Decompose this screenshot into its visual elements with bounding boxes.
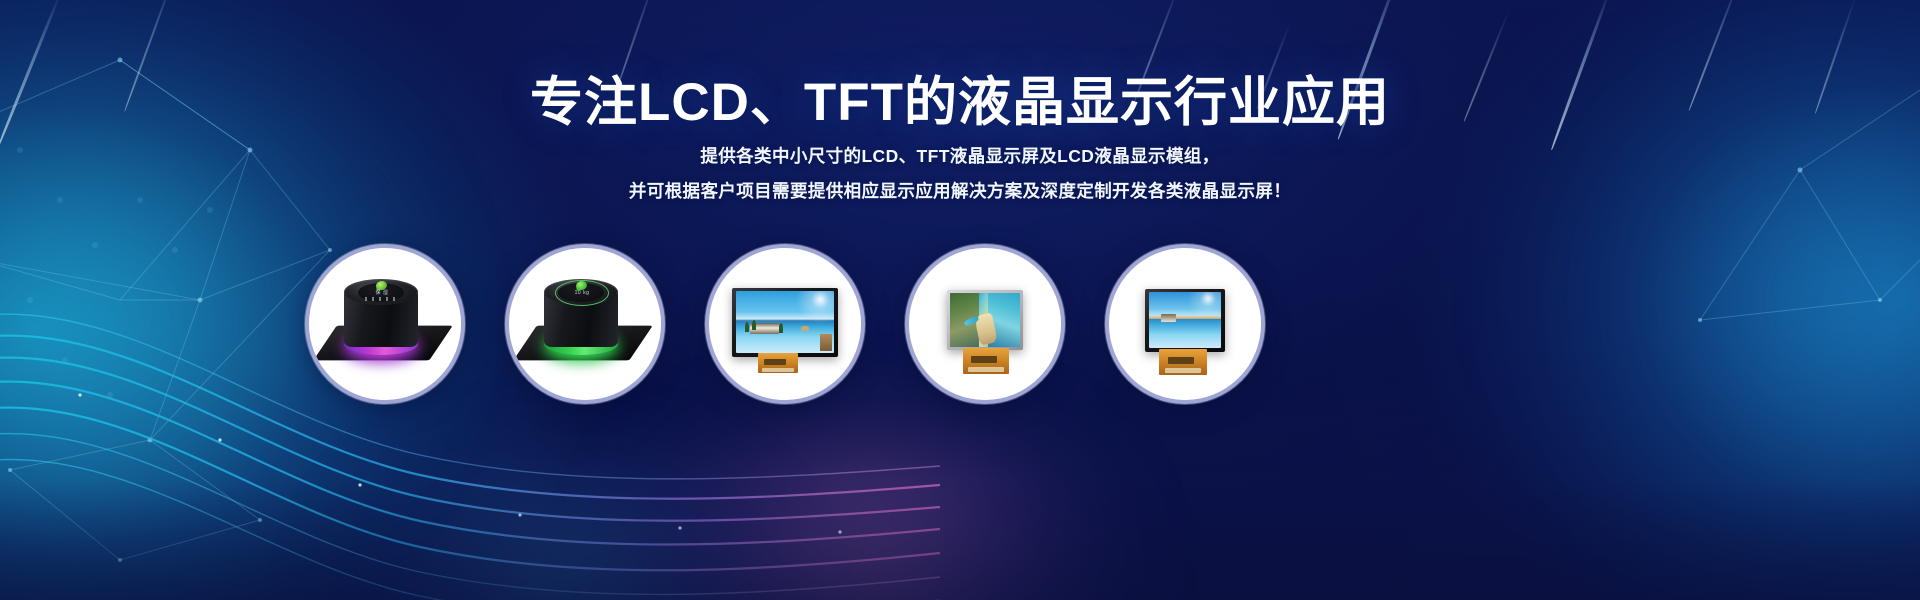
lcd-contact-pads (968, 367, 1004, 372)
round-smart-device-purple-led-icon: 保 湿 (319, 269, 451, 379)
scene-palm-2 (752, 320, 756, 330)
lcd-panel-4-3-black-icon (1145, 289, 1225, 352)
glow-bottom-center (300, 470, 820, 600)
product-circle-lcd-43-coast[interactable] (905, 244, 1065, 404)
lcd-screen-image-beach (1149, 292, 1221, 348)
lcd-contact-pads (762, 368, 794, 372)
product-circle-lcd-43-beach[interactable] (1105, 244, 1265, 404)
scene-rock (801, 326, 809, 331)
product-image-smart-speaker-purple: 保 湿 (309, 248, 461, 400)
product-circle-smart-speaker-purple[interactable]: 保 湿 (305, 244, 465, 404)
lcd-bezel (1145, 289, 1225, 352)
page-title: 专注LCD、TFT的液晶显示行业应用 (0, 72, 1920, 134)
product-image-smart-speaker-green: 10 kg (509, 248, 661, 400)
product-circle-row: 保 湿 10 kg (0, 244, 1920, 404)
scene-palm-3 (779, 323, 783, 333)
lcd-bezel (732, 288, 838, 357)
lcd-driver-chip (971, 356, 997, 363)
product-image-lcd-43-coast (909, 248, 1061, 400)
hero-banner: 专注LCD、TFT的液晶显示行业应用 提供各类中小尺寸的LCD、TFT液晶显示屏… (0, 0, 1920, 600)
lcd-driver-chip (1168, 357, 1194, 364)
device-screen-label: 10 kg (563, 290, 601, 296)
lcd-panel-widescreen-icon (732, 288, 838, 357)
scene-hut (1161, 314, 1177, 322)
lcd-bezel (947, 290, 1023, 350)
lcd-flex-cable (1159, 349, 1207, 375)
subtitle-line-2: 并可根据客户项目需要提供相应显示应用解决方案及深度定制开发各类液晶显示屏！ (0, 178, 1920, 204)
product-circle-smart-speaker-green[interactable]: 10 kg (505, 244, 665, 404)
device-screen-dots (365, 297, 399, 301)
lcd-panel-4-3-silver-icon (947, 290, 1023, 350)
product-image-lcd-widescreen (709, 248, 861, 400)
lcd-driver-chip (764, 359, 786, 365)
device-screen-label: 保 湿 (363, 290, 401, 296)
glow-bottom-pink (560, 430, 1180, 600)
lcd-screen-image-coast (950, 293, 1020, 347)
lcd-screen-image-pool (736, 291, 834, 353)
product-image-lcd-43-beach (1109, 248, 1261, 400)
subtitle-line-1: 提供各类中小尺寸的LCD、TFT液晶显示屏及LCD液晶显示模组， (0, 143, 1920, 169)
bottom-vignette (0, 480, 1920, 600)
product-circle-lcd-widescreen[interactable] (705, 244, 865, 404)
scene-shoreline (1149, 316, 1221, 319)
scene-palm-1 (745, 322, 749, 332)
round-smart-device-green-led-icon: 10 kg (519, 269, 651, 379)
lcd-flex-cable (963, 348, 1009, 374)
lcd-contact-pads (1165, 368, 1201, 373)
lcd-flex-cable (758, 353, 798, 373)
scene-deck (820, 334, 832, 351)
